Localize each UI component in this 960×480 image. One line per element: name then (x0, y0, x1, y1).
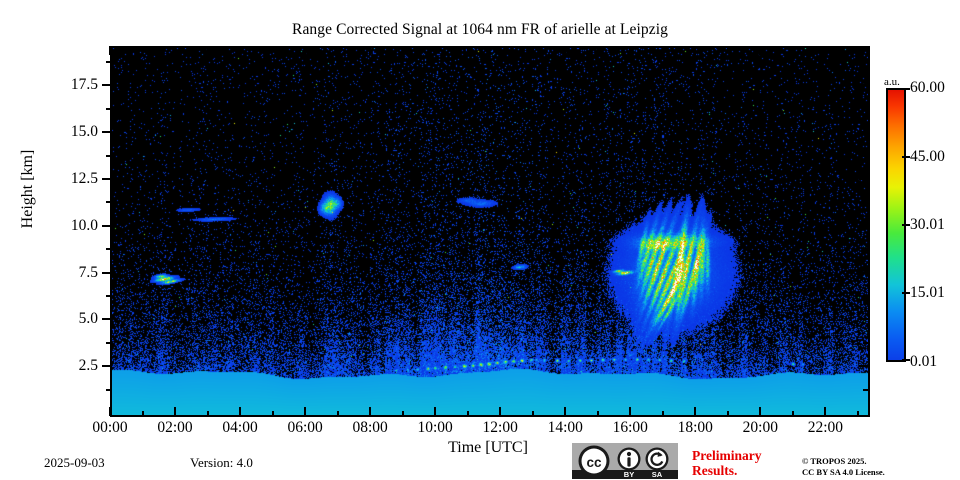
colorbar-tick-label: 0.01 (910, 353, 937, 371)
x-axis-tick (304, 407, 306, 416)
colorbar-tick (902, 224, 910, 226)
x-axis-minor-tick-top (792, 46, 794, 51)
colorbar-tick (902, 359, 910, 361)
y-axis-minor-tick (106, 201, 111, 203)
x-axis-minor-tick-top (662, 46, 664, 51)
y-axis-tick (102, 131, 111, 133)
y-axis-tick-label: 2.5 (0, 357, 98, 375)
x-axis-tick (499, 407, 501, 416)
y-axis-minor-tick (106, 295, 111, 297)
x-axis-minor-tick (337, 411, 339, 416)
colorbar-tick (902, 88, 910, 90)
x-axis-tick (369, 407, 371, 416)
badge-sa-label: SA (652, 470, 663, 479)
x-axis-tick (824, 407, 826, 416)
y-axis-minor-tick (106, 61, 111, 63)
colorbar-tick-label: 60.00 (910, 79, 945, 97)
x-axis-tick (434, 407, 436, 416)
y-axis-tick (102, 84, 111, 86)
x-axis-tick-top (174, 46, 176, 55)
x-axis-tick-top (304, 46, 306, 55)
figure-date: 2025-09-03 (44, 455, 105, 471)
y-axis-minor-tick (106, 108, 111, 110)
y-axis-tick-right (859, 365, 868, 367)
x-axis-tick (564, 407, 566, 416)
y-axis-tick (102, 178, 111, 180)
x-axis-tick-top (759, 46, 761, 55)
y-axis-label: Height [km] (19, 99, 37, 279)
y-axis-tick-right (859, 84, 868, 86)
y-axis-tick (102, 365, 111, 367)
figure-version: Version: 4.0 (190, 455, 253, 471)
x-axis-tick-top (239, 46, 241, 55)
colorbar-tick-label: 30.01 (910, 216, 945, 234)
x-axis-tick-top (694, 46, 696, 55)
x-axis-tick-top (369, 46, 371, 55)
y-axis-minor-tick (106, 248, 111, 250)
preliminary-line-1: Preliminary (692, 448, 802, 463)
lidar-heatmap-canvas[interactable] (112, 48, 868, 415)
y-axis-tick-label: 17.5 (0, 76, 98, 94)
y-axis-minor-tick-right (863, 201, 868, 203)
y-axis-minor-tick-right (863, 389, 868, 391)
y-axis-minor-tick (106, 389, 111, 391)
y-axis-minor-tick-right (863, 108, 868, 110)
x-axis-minor-tick (272, 411, 274, 416)
x-axis-minor-tick-top (272, 46, 274, 51)
x-axis-tick (629, 407, 631, 416)
y-axis-minor-tick (106, 342, 111, 344)
y-axis-tick-right (859, 225, 868, 227)
x-axis-minor-tick (792, 411, 794, 416)
x-axis-minor-tick-top (467, 46, 469, 51)
y-axis-tick-right (859, 131, 868, 133)
x-axis-minor-tick (467, 411, 469, 416)
y-axis-tick-label: 5.0 (0, 310, 98, 328)
x-axis-minor-tick (662, 411, 664, 416)
y-axis-minor-tick-right (863, 61, 868, 63)
page-title: Range Corrected Signal at 1064 nm FR of … (0, 21, 960, 39)
x-axis-tick-label: 22:00 (785, 419, 865, 437)
x-axis-minor-tick-top (727, 46, 729, 51)
quicklook-figure: Range Corrected Signal at 1064 nm FR of … (0, 0, 960, 480)
colorbar-unit-label: a.u. (884, 76, 900, 88)
x-axis-minor-tick (727, 411, 729, 416)
colorbar-tick-label: 45.00 (910, 148, 945, 166)
x-axis-minor-tick-top (207, 46, 209, 51)
y-axis-tick-right (859, 178, 868, 180)
x-axis-minor-tick-top (857, 46, 859, 51)
svg-text:cc: cc (586, 455, 602, 470)
x-axis-tick (109, 407, 111, 416)
x-axis-minor-tick (597, 411, 599, 416)
copyright-line-2: CC BY SA 4.0 License. (802, 467, 885, 478)
cc-by-sa-icon: cc BY SA (572, 443, 678, 479)
x-axis-tick-top (109, 46, 111, 55)
x-axis-tick-top (499, 46, 501, 55)
x-axis-minor-tick (402, 411, 404, 416)
y-axis-tick-right (859, 272, 868, 274)
y-axis-minor-tick-right (863, 342, 868, 344)
plot-area[interactable] (110, 46, 870, 417)
y-axis-tick-label: 12.5 (0, 170, 98, 188)
y-axis-minor-tick (106, 155, 111, 157)
x-axis-tick-top (629, 46, 631, 55)
y-axis-tick (102, 318, 111, 320)
y-axis-tick (102, 225, 111, 227)
y-axis-tick (102, 272, 111, 274)
y-axis-tick-label: 10.0 (0, 217, 98, 235)
y-axis-tick-label: 15.0 (0, 123, 98, 141)
x-axis-tick (759, 407, 761, 416)
y-axis-tick-right (859, 318, 868, 320)
x-axis-tick-top (564, 46, 566, 55)
x-axis-minor-tick (532, 411, 534, 416)
x-axis-tick (694, 407, 696, 416)
y-axis-minor-tick-right (863, 295, 868, 297)
x-axis-minor-tick (207, 411, 209, 416)
colorbar-tick (902, 156, 910, 158)
creative-commons-badge[interactable]: cc BY SA (572, 443, 678, 479)
badge-by-label: BY (624, 470, 634, 479)
x-axis-minor-tick-top (402, 46, 404, 51)
y-axis-minor-tick-right (863, 155, 868, 157)
preliminary-line-2: Results. (692, 463, 802, 478)
colorbar-tick (902, 292, 910, 294)
x-axis-minor-tick-top (337, 46, 339, 51)
preliminary-results-note: Preliminary Results. (692, 448, 802, 478)
x-axis-minor-tick (142, 411, 144, 416)
y-axis-tick-label: 7.5 (0, 264, 98, 282)
x-axis-minor-tick-top (142, 46, 144, 51)
x-axis-tick (239, 407, 241, 416)
x-axis-tick-top (434, 46, 436, 55)
colorbar-tick-label: 15.01 (910, 284, 945, 302)
x-axis-tick-top (824, 46, 826, 55)
x-axis-minor-tick-top (597, 46, 599, 51)
x-axis-minor-tick (857, 411, 859, 416)
copyright-line-1: © TROPOS 2025. (802, 456, 885, 467)
x-axis-tick (174, 407, 176, 416)
copyright-note: © TROPOS 2025. CC BY SA 4.0 License. (802, 456, 885, 478)
y-axis-minor-tick-right (863, 248, 868, 250)
x-axis-minor-tick-top (532, 46, 534, 51)
